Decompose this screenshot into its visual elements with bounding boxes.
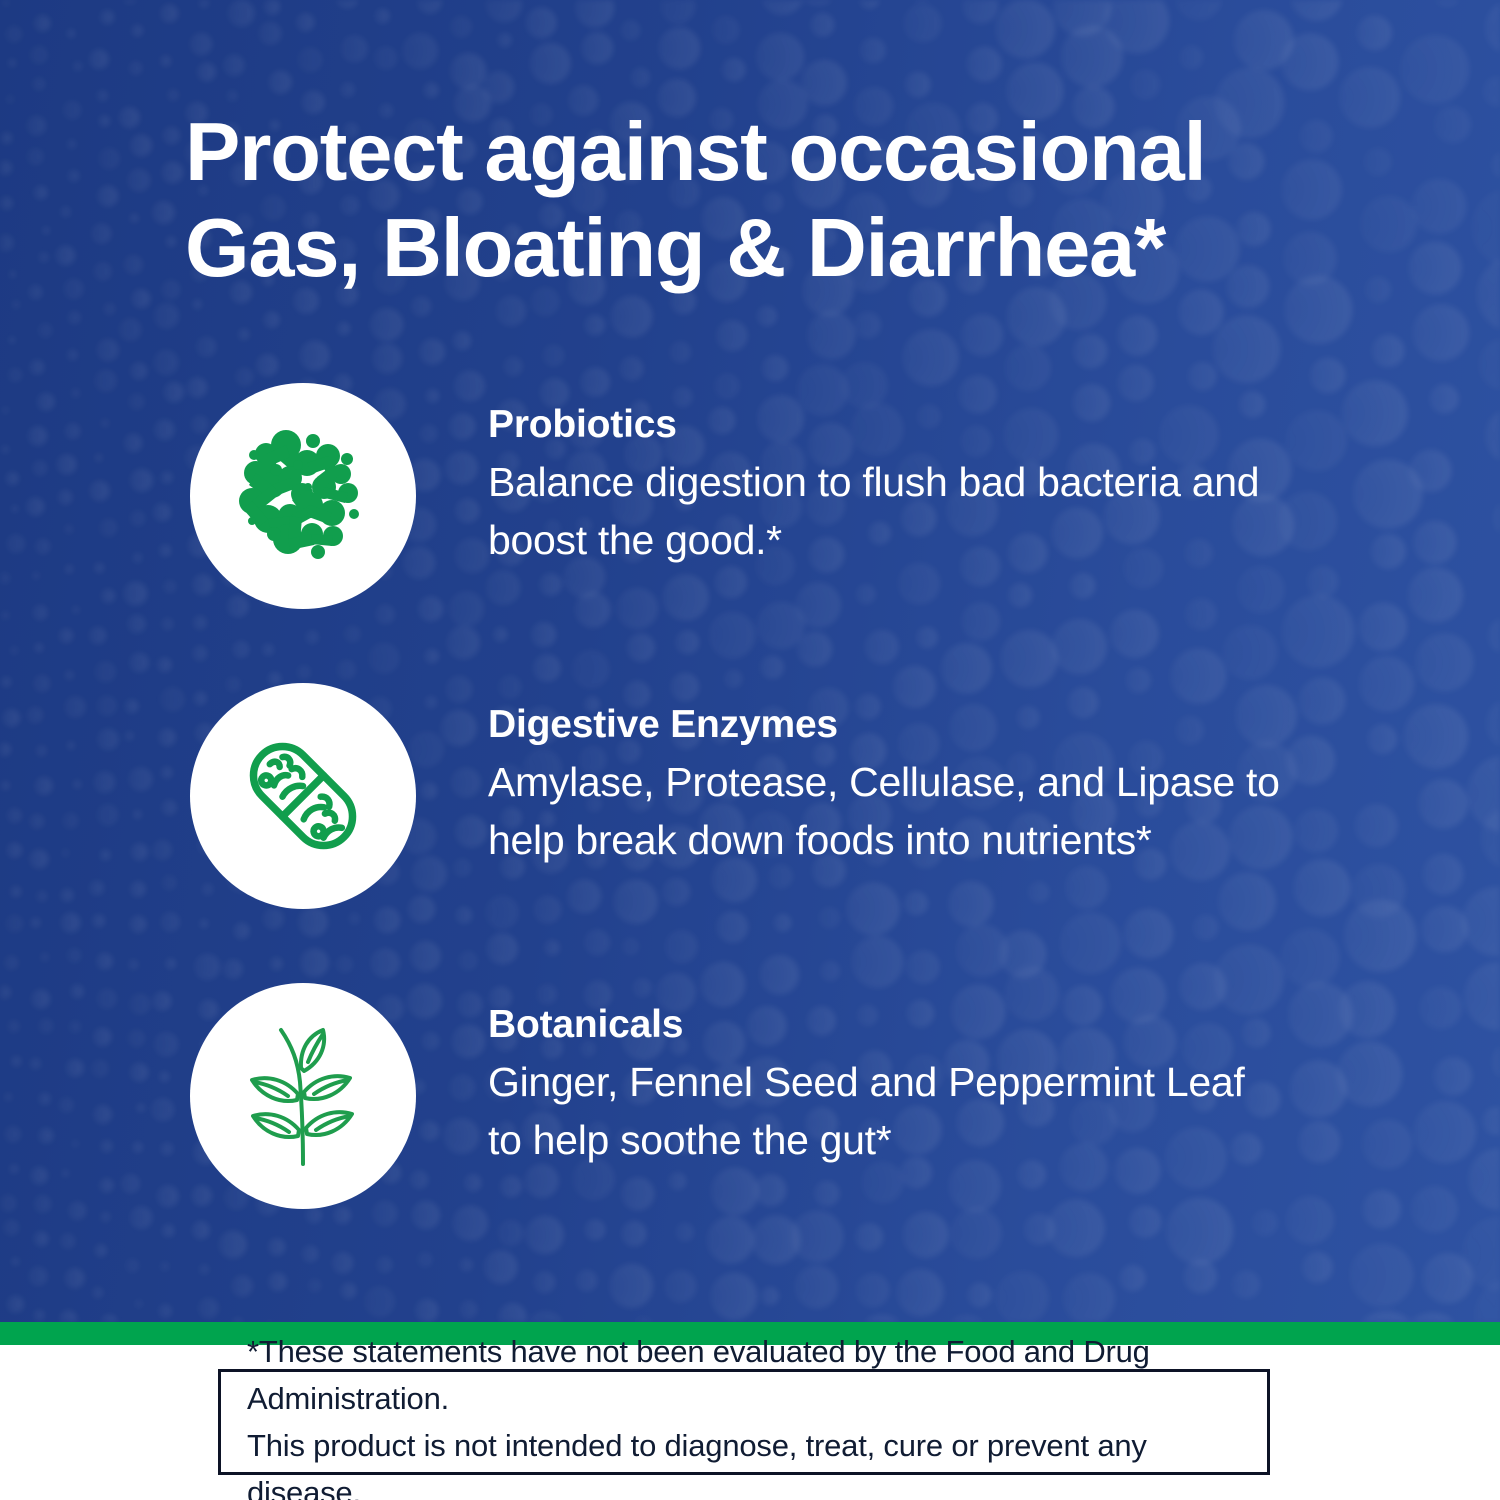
digestive-enzyme-capsule-icon bbox=[190, 683, 416, 909]
feature-row-probiotics: Probiotics Balance digestion to flush ba… bbox=[190, 383, 1370, 609]
feature-description: Balance digestion to flush bad bacteria … bbox=[488, 453, 1358, 569]
feature-description: Ginger, Fennel Seed and Peppermint Leaf … bbox=[488, 1053, 1358, 1169]
feature-text-block: Digestive Enzymes Amylase, Protease, Cel… bbox=[488, 701, 1358, 869]
feature-title: Botanicals bbox=[488, 1001, 1358, 1049]
disclaimer-text: *These statements have not been evaluate… bbox=[221, 1328, 1267, 1500]
page-title: Protect against occasional Gas, Bloating… bbox=[185, 104, 1335, 296]
feature-text-block: Probiotics Balance digestion to flush ba… bbox=[488, 401, 1358, 569]
feature-title: Digestive Enzymes bbox=[488, 701, 1358, 749]
botanicals-plant-sprig-icon bbox=[190, 983, 416, 1209]
infographic-poster: Protect against occasional Gas, Bloating… bbox=[0, 0, 1500, 1500]
feature-description: Amylase, Protease, Cellulase, and Lipase… bbox=[488, 753, 1358, 869]
feature-text-block: Botanicals Ginger, Fennel Seed and Peppe… bbox=[488, 1001, 1358, 1169]
feature-row-digestive-enzymes: Digestive Enzymes Amylase, Protease, Cel… bbox=[190, 683, 1370, 909]
feature-title: Probiotics bbox=[488, 401, 1358, 449]
disclaimer-box: *These statements have not been evaluate… bbox=[218, 1369, 1270, 1475]
probiotics-bacteria-cluster-icon bbox=[190, 383, 416, 609]
feature-row-botanicals: Botanicals Ginger, Fennel Seed and Peppe… bbox=[190, 983, 1370, 1209]
